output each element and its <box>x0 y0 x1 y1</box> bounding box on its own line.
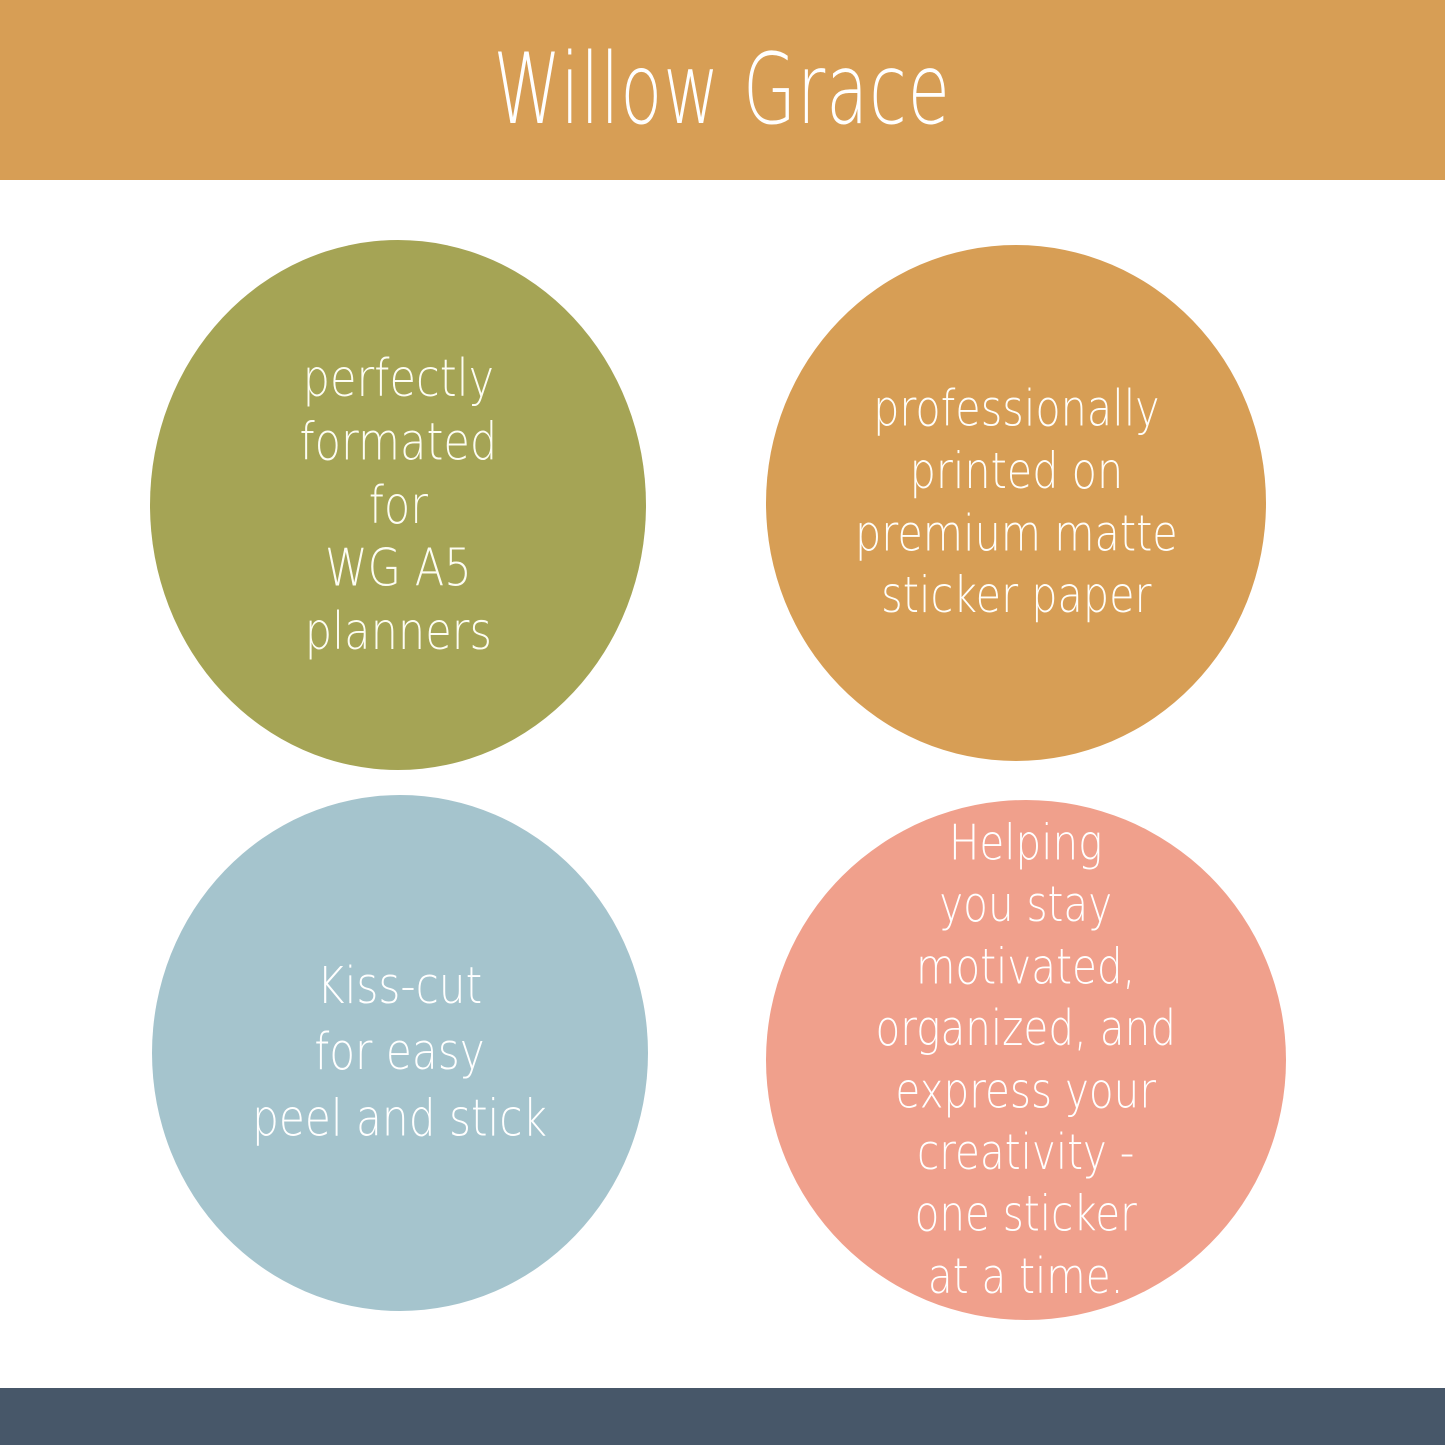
feature-circle-printing: professionally printed on premium matte … <box>766 245 1266 761</box>
feature-circle-grid: perfectly formated for WG A5 planners pr… <box>0 180 1445 1388</box>
feature-circle-kiss-cut: Kiss-cut for easy peel and stick <box>152 795 648 1311</box>
brand-title: Willow Grace <box>494 41 952 139</box>
footer-bar <box>0 1388 1445 1445</box>
feature-circle-formatting-label: perfectly formated for WG A5 planners <box>299 347 497 664</box>
feature-circle-mission: Helping you stay motivated, organized, a… <box>766 800 1286 1320</box>
header-banner: Willow Grace <box>0 0 1445 180</box>
feature-circle-printing-label: professionally printed on premium matte … <box>855 378 1178 627</box>
feature-circle-kiss-cut-label: Kiss-cut for easy peel and stick <box>253 954 548 1152</box>
sticker-info-card: Willow Grace perfectly formated for WG A… <box>0 0 1445 1445</box>
feature-circle-formatting: perfectly formated for WG A5 planners <box>150 240 646 770</box>
feature-circle-mission-label: Helping you stay motivated, organized, a… <box>876 812 1176 1307</box>
